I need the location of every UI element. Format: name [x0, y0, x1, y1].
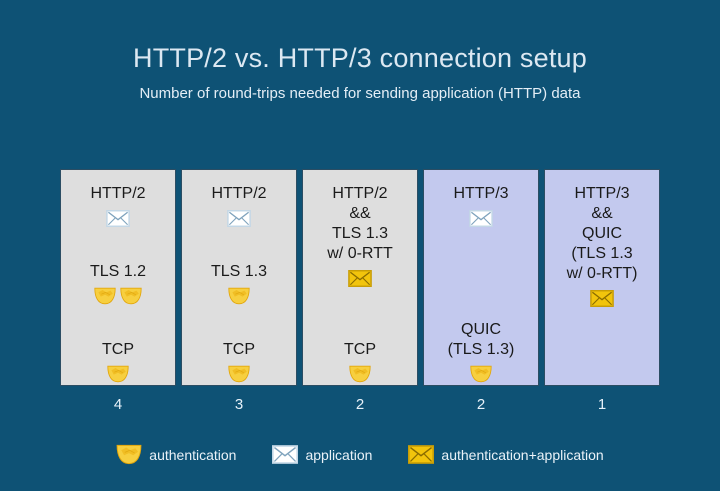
columns-container: HTTP/2TLS 1.2TCP4HTTP/2TLS 1.3TCP3HTTP/2…: [60, 169, 660, 413]
legend-item: authentication+application: [408, 445, 603, 464]
stack-layer-label: TLS 1.2: [90, 262, 146, 282]
stack-layer: HTTP/3 && QUIC (TLS 1.3 w/ 0-RTT): [545, 184, 659, 309]
envelope-yellow-icon: [408, 445, 434, 464]
handshake-icon: [116, 444, 142, 465]
envelope-yellow-icon: [348, 270, 372, 287]
round-trip-count: 2: [477, 396, 485, 413]
stack-layer: TCP: [303, 340, 417, 385]
stack-layer: TCP: [61, 340, 175, 385]
stack-layer-label: HTTP/3 && QUIC (TLS 1.3 w/ 0-RTT): [567, 184, 638, 284]
legend-label: application: [305, 447, 372, 463]
stack-layer-icons: [94, 285, 142, 307]
legend-label: authentication+application: [441, 447, 603, 463]
round-trip-count: 4: [114, 396, 122, 413]
protocol-stack-card[interactable]: HTTP/2TLS 1.2TCP: [60, 169, 176, 386]
legend-item: authentication: [116, 444, 236, 465]
page-title: HTTP/2 vs. HTTP/3 connection setup: [0, 44, 720, 74]
round-trip-count: 3: [235, 396, 243, 413]
column-1: HTTP/2TLS 1.2TCP4: [60, 169, 176, 413]
chart-header: HTTP/2 vs. HTTP/3 connection setup Numbe…: [0, 0, 720, 102]
stack-layer-label: TCP: [102, 340, 134, 360]
protocol-stack-card[interactable]: HTTP/3 && QUIC (TLS 1.3 w/ 0-RTT): [544, 169, 660, 386]
stack-layer-icons: [349, 363, 371, 385]
stack-layer-icons: [348, 267, 372, 289]
stack-layer-icons: [107, 363, 129, 385]
page-subtitle: Number of round-trips needed for sending…: [0, 86, 720, 103]
handshake-icon: [349, 365, 371, 383]
stack-layer: HTTP/2: [182, 184, 296, 229]
stack-layer: HTTP/3: [424, 184, 538, 229]
stack-layer: TLS 1.3: [182, 262, 296, 307]
envelope-white-icon: [227, 210, 251, 227]
protocol-stack-card[interactable]: HTTP/2TLS 1.3TCP: [181, 169, 297, 386]
stack-layer: HTTP/2 && TLS 1.3 w/ 0-RTT: [303, 184, 417, 289]
round-trip-count: 2: [356, 396, 364, 413]
column-2: HTTP/2TLS 1.3TCP3: [181, 169, 297, 413]
stack-layer-icons: [228, 285, 250, 307]
stack-layer-label: TLS 1.3: [211, 262, 267, 282]
envelope-white-icon: [272, 445, 298, 464]
protocol-stack-card[interactable]: HTTP/2 && TLS 1.3 w/ 0-RTTTCP: [302, 169, 418, 386]
stack-layer-label: HTTP/3: [453, 184, 508, 204]
stack-layer-label: HTTP/2 && TLS 1.3 w/ 0-RTT: [327, 184, 392, 264]
stack-layer-icons: [106, 207, 130, 229]
stack-layer: TLS 1.2: [61, 262, 175, 307]
stack-layer: HTTP/2: [61, 184, 175, 229]
round-trip-count: 1: [598, 396, 606, 413]
stack-layer: QUIC (TLS 1.3): [424, 320, 538, 385]
stack-layer-label: QUIC (TLS 1.3): [448, 320, 515, 360]
legend: authenticationapplicationauthentication+…: [0, 444, 720, 465]
handshake-icon: [228, 365, 250, 383]
handshake-icon: [107, 365, 129, 383]
handshake-icon: [94, 287, 116, 305]
stack-layer-icons: [470, 363, 492, 385]
column-3: HTTP/2 && TLS 1.3 w/ 0-RTTTCP2: [302, 169, 418, 413]
column-4: HTTP/3QUIC (TLS 1.3)2: [423, 169, 539, 413]
stack-layer-label: HTTP/2: [211, 184, 266, 204]
envelope-yellow-icon: [590, 290, 614, 307]
stack-layer-icons: [228, 363, 250, 385]
stack-layer-label: HTTP/2: [90, 184, 145, 204]
stack-layer-label: TCP: [223, 340, 255, 360]
handshake-icon: [120, 287, 142, 305]
protocol-stack-card[interactable]: HTTP/3QUIC (TLS 1.3): [423, 169, 539, 386]
handshake-icon: [228, 287, 250, 305]
stack-layer: TCP: [182, 340, 296, 385]
stack-layer-icons: [227, 207, 251, 229]
envelope-white-icon: [469, 210, 493, 227]
column-5: HTTP/3 && QUIC (TLS 1.3 w/ 0-RTT)1: [544, 169, 660, 413]
stack-layer-icons: [469, 207, 493, 229]
legend-label: authentication: [149, 447, 236, 463]
legend-item: application: [272, 445, 372, 464]
envelope-white-icon: [106, 210, 130, 227]
stack-layer-icons: [590, 287, 614, 309]
handshake-icon: [470, 365, 492, 383]
stack-layer-label: TCP: [344, 340, 376, 360]
